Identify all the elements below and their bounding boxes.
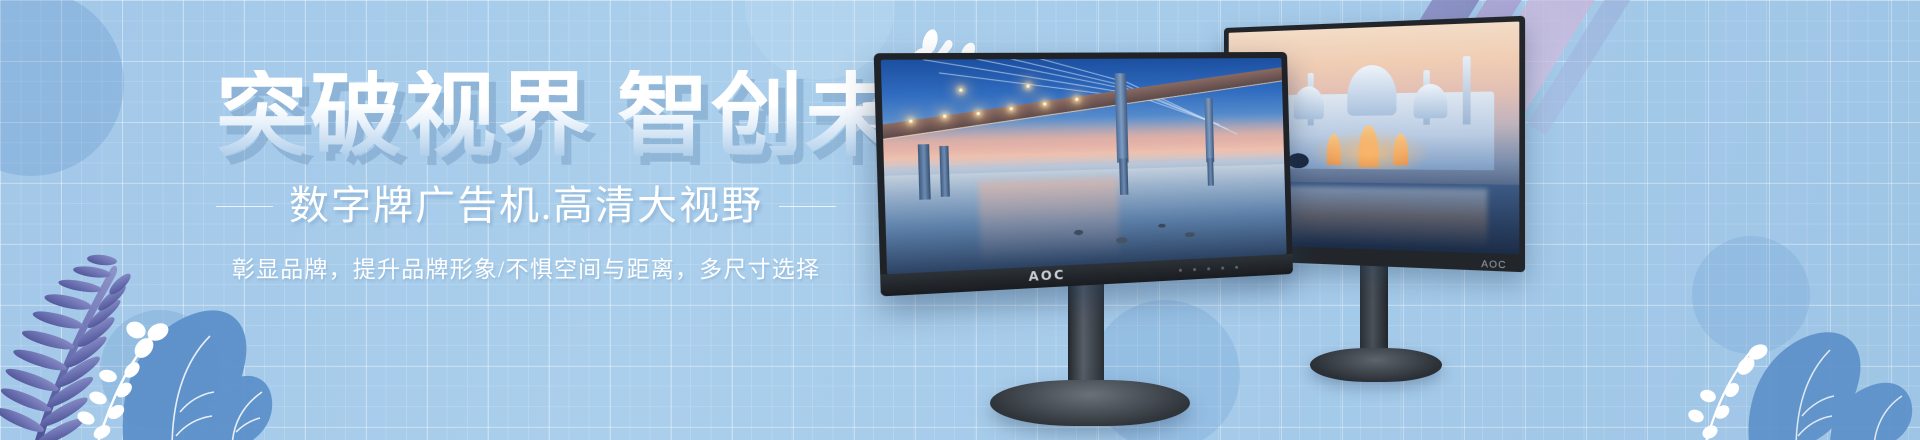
front-monitor: AOC — [874, 52, 1293, 296]
divider-left — [216, 206, 273, 207]
front-monitor-screen — [881, 58, 1287, 274]
bridge-scene-image — [881, 58, 1287, 274]
divider-right — [779, 206, 836, 207]
back-monitor-stand — [1310, 256, 1442, 388]
back-monitor-brand: AOC — [1481, 258, 1507, 270]
text-block: 突破视界 智创未来 数字牌广告机.高清大视野 彰显品牌，提升品牌形象/不惧空间与… — [0, 0, 900, 440]
promo-banner: 突破视界 智创未来 数字牌广告机.高清大视野 彰显品牌，提升品牌形象/不惧空间与… — [0, 0, 1920, 440]
front-monitor-brand: AOC — [1028, 267, 1065, 284]
subtitle: 数字牌广告机.高清大视野 — [273, 186, 779, 226]
product-images: AOC — [880, 0, 1920, 440]
front-monitor-stand — [990, 268, 1190, 440]
subtitle-row: 数字牌广告机.高清大视野 — [216, 186, 836, 226]
tagline: 彰显品牌，提升品牌形象/不惧空间与距离，多尺寸选择 — [216, 258, 836, 281]
